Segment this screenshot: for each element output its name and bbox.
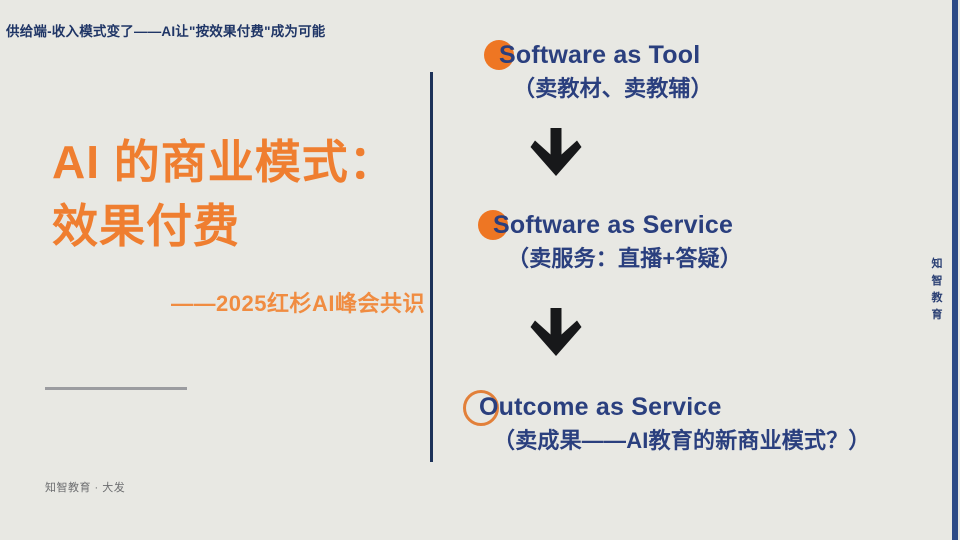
page-title: AI 的商业模式： 效果付费 [52,130,430,258]
stage-list: Software as Tool （卖教材、卖教辅） Software as S… [433,0,960,540]
list-item: Software as Tool （卖教材、卖教辅） [499,40,713,104]
list-item: Software as Service （卖服务：直播+答疑） [493,210,742,274]
arrow-down-icon [527,306,585,358]
page-title-line-2: 效果付费 [52,194,430,258]
arrow-down-icon [527,126,585,178]
page-subtitle: ——2025红杉AI峰会共识 [30,286,425,318]
page-title-line-1: AI 的商业模式： [52,136,396,188]
stage-title-en: Software as Service [493,210,742,240]
stage-title-cn: （卖教材、卖教辅） [513,74,713,104]
stage-title-cn: （卖成果——AI教育的新商业模式？） [493,426,871,456]
list-item: Outcome as Service （卖成果——AI教育的新商业模式？） [479,392,871,456]
slide-canvas: 供给端-收入模式变了——AI让"按效果付费"成为可能 知 智 教 育 AI 的商… [0,0,960,540]
left-title-panel: AI 的商业模式： 效果付费 ——2025红杉AI峰会共识 知智教育 · 大发 [0,0,430,540]
footer-note: 知智教育 · 大发 [45,479,125,495]
stage-title-cn: （卖服务：直播+答疑） [507,244,742,274]
stage-title-en: Outcome as Service [479,392,871,422]
stage-title-en: Software as Tool [499,40,713,70]
horizontal-divider [45,387,187,390]
